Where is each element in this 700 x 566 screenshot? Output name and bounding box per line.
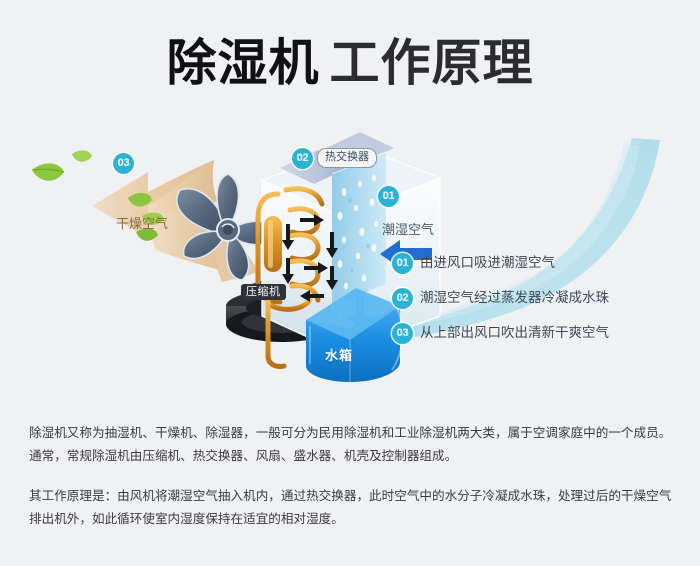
legend-badge-03: 03 — [392, 323, 413, 344]
label-compressor: 压缩机 — [241, 284, 286, 300]
page-title-part2: 工作原理 — [330, 35, 534, 91]
legend-badge-02: 02 — [392, 288, 413, 309]
diagram-badge-02: 02 — [292, 148, 313, 169]
diagram-badge-03: 03 — [113, 153, 134, 174]
page-title: 除湿机工作原理 — [0, 34, 700, 92]
legend-text-02: 潮湿空气经过蒸发器冷凝成水珠 — [420, 290, 609, 305]
legend-item-02: 02 潮湿空气经过蒸发器冷凝成水珠 — [392, 287, 688, 322]
legend-item-01: 01 由进风口吸进潮湿空气 — [392, 252, 688, 287]
coil-accumulator — [264, 216, 282, 272]
legend-text-03: 从上部出风口吹出清新干爽空气 — [420, 325, 609, 340]
label-heat-exchanger: 热交换器 — [317, 148, 377, 168]
description-paragraph-1: 除湿机又称为抽湿机、干燥机、除湿器，一般可分为民用除湿机和工业除湿机两大类，属于… — [29, 422, 674, 468]
label-humid-air: 潮湿空气 — [382, 219, 434, 238]
infographic-page: 除湿机工作原理 — [0, 0, 700, 566]
description-paragraph-2: 其工作原理是：由风机将潮湿空气抽入机内，通过热交换器，此时空气中的水分子冷凝成水… — [29, 485, 674, 531]
label-water-tank: 水箱 — [325, 345, 353, 364]
legend-list: 01 由进风口吸进潮湿空气 02 潮湿空气经过蒸发器冷凝成水珠 03 从上部出风… — [392, 252, 688, 357]
diagram-badge-01: 01 — [378, 186, 399, 207]
legend-badge-01: 01 — [392, 253, 413, 274]
evaporator-panel — [332, 152, 386, 306]
legend-text-01: 由进风口吸进潮湿空气 — [420, 255, 555, 270]
legend-item-03: 03 从上部出风口吹出清新干爽空气 — [392, 322, 688, 357]
label-dry-air: 干燥空气 — [116, 213, 168, 232]
page-title-part1: 除湿机 — [167, 35, 320, 91]
description-block: 除湿机又称为抽湿机、干燥机、除湿器，一般可分为民用除湿机和工业除湿机两大类，属于… — [29, 422, 674, 548]
